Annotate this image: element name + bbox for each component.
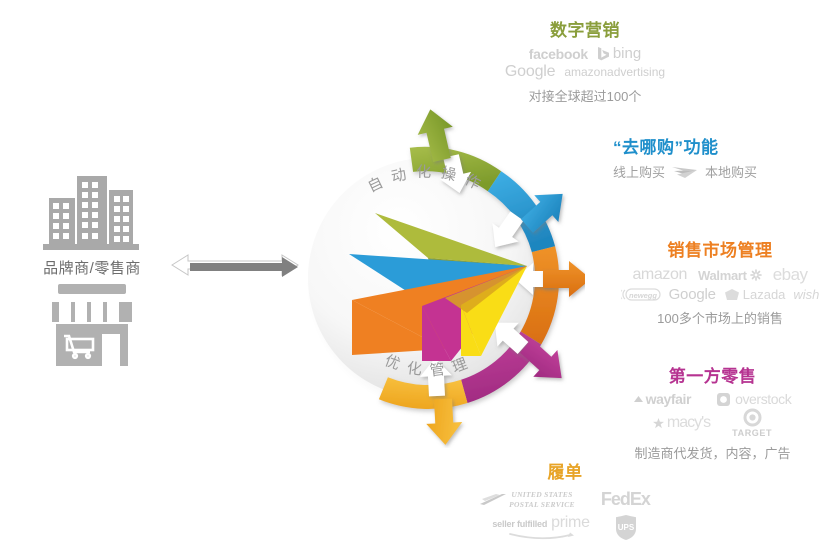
storefront-icon	[42, 282, 142, 370]
logo-row: UNITED STATESPOSTAL SERVICE FedEx	[450, 489, 680, 510]
macys-star-icon	[653, 418, 664, 429]
block-digital-marketing: 数字营销 facebook bing Google amazonadvertis…	[470, 16, 700, 105]
office-buildings-icon	[37, 160, 147, 255]
walmart-logo: Walmart	[698, 268, 762, 283]
logo-row: seller fulfilled prime UPS	[450, 514, 680, 541]
block-sub-marketplace: 100多个市场上的销售	[620, 308, 820, 327]
logo-row: newegg Google Lazada wish	[620, 286, 820, 303]
amazon-advertising-logo: amazonadvertising	[564, 65, 665, 79]
block-title-where-to-buy: “去哪购”功能	[613, 133, 757, 158]
wayfair-mark-icon	[634, 395, 643, 404]
bing-logo: bing	[597, 45, 641, 62]
block-title-digital-marketing: 数字营销	[470, 16, 700, 41]
block-title-fulfillment: 履单	[450, 458, 680, 483]
target-bullseye-icon	[743, 408, 762, 427]
usps-wordmark: UNITED STATESPOSTAL SERVICE	[509, 490, 575, 509]
amazon-logo: amazon	[632, 266, 687, 284]
block-marketplace: 销售市场管理 amazon Walmart ebay newegg	[620, 236, 820, 327]
logo-row: 线上购买 本地购买	[613, 162, 757, 181]
google-logo: Google	[505, 63, 555, 81]
local-purchase-label: 本地购买	[705, 162, 757, 181]
walmart-spark-icon	[750, 269, 762, 281]
paper-plane-icon	[295, 108, 585, 448]
logo-row: amazon Walmart ebay	[620, 265, 820, 285]
paper-plane-small-icon	[672, 165, 698, 179]
ups-shield-icon: UPS	[614, 514, 638, 541]
ups-logo: UPS	[614, 514, 638, 541]
overstock-mark-icon	[717, 392, 732, 407]
brands-retailers-label: 品牌商/零售商	[12, 257, 172, 278]
newegg-badge-icon: newegg	[621, 287, 661, 302]
newegg-logo: newegg	[621, 287, 661, 302]
logo-row: wayfair overstock	[605, 391, 820, 407]
two-way-horizontal-arrow-icon	[170, 252, 300, 286]
prime-wordmark: prime	[551, 514, 590, 532]
svg-text:newegg: newegg	[629, 291, 657, 300]
macys-logo: macy's	[653, 414, 710, 432]
lazada-bag-icon	[724, 288, 740, 302]
sfp-prefix: seller fulfilled	[492, 519, 547, 529]
logo-row: facebook bing	[470, 45, 700, 62]
target-logo: TARGET	[732, 408, 772, 438]
logo-row: Google amazonadvertising	[470, 63, 700, 81]
block-title-marketplace: 销售市场管理	[620, 236, 820, 261]
usps-logo: UNITED STATESPOSTAL SERVICE	[480, 490, 575, 509]
facebook-logo: facebook	[529, 46, 588, 62]
block-title-first-party: 第一方零售	[605, 362, 820, 387]
usps-eagle-icon	[480, 492, 506, 507]
lazada-logo: Lazada	[724, 287, 786, 302]
brands-retailers-group: 品牌商/零售商	[12, 160, 172, 370]
block-fulfillment: 履单 UNITED STATESPOSTAL SERVICE FedEx sel…	[450, 458, 680, 542]
online-purchase-label: 线上购买	[613, 162, 665, 181]
ebay-logo: ebay	[773, 265, 808, 285]
seller-fulfilled-prime-logo: seller fulfilled prime	[492, 514, 589, 541]
overstock-logo: overstock	[717, 391, 791, 407]
block-sub-digital-marketing: 对接全球超过100个	[470, 86, 700, 105]
svg-text:UPS: UPS	[617, 523, 634, 532]
amazon-smile-icon	[506, 532, 576, 541]
wish-logo: wish	[793, 287, 819, 302]
logo-row: macy's TARGET	[605, 408, 820, 438]
automation-hub: 自动化操作 优化管理	[295, 108, 585, 448]
block-first-party: 第一方零售 wayfair overstock macy's	[605, 362, 820, 462]
block-where-to-buy: “去哪购”功能 线上购买 本地购买	[613, 133, 757, 182]
google-logo: Google	[669, 286, 716, 303]
bing-glyph-icon	[597, 46, 610, 61]
wayfair-logo: wayfair	[634, 391, 691, 407]
fedex-logo: FedEx	[601, 489, 650, 510]
